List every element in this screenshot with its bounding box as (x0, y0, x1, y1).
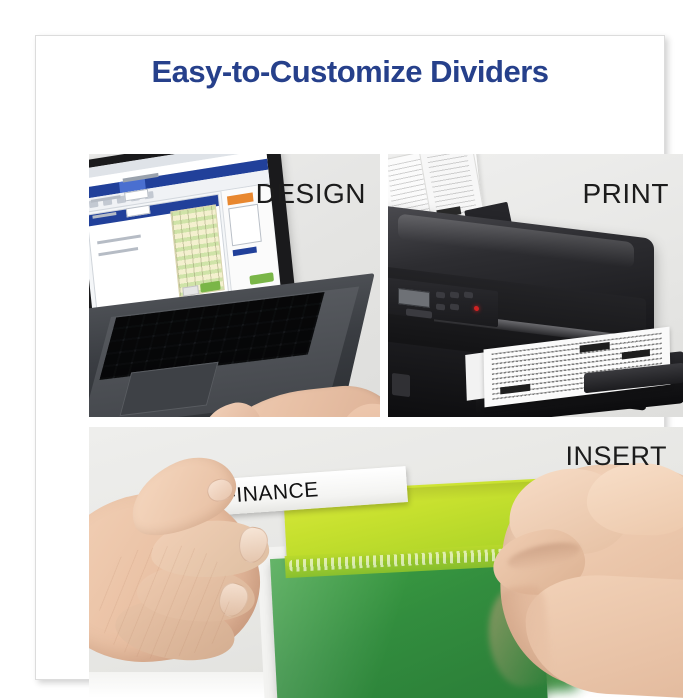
printer-button (464, 291, 473, 298)
printer-power-indicator (474, 306, 479, 312)
page-title: Easy-to-Customize Dividers (36, 54, 664, 90)
screen-preview-thumb (228, 204, 262, 247)
insert-label-text: FINANCE (222, 478, 319, 509)
product-card: Easy-to-Customize Dividers (35, 35, 665, 680)
printer-button (450, 303, 459, 310)
panel-design: DESIGN (89, 154, 380, 417)
printer-front-button (392, 373, 410, 397)
panel-label-insert: INSERT (565, 441, 667, 472)
panel-label-design: DESIGN (256, 178, 366, 210)
printer-button (450, 291, 459, 298)
panel-label-print: PRINT (583, 178, 670, 210)
printer-button (436, 303, 445, 310)
printer-button (436, 291, 445, 298)
panel-insert: FINANCE INSERT (89, 427, 683, 698)
screenshot-stage: Easy-to-Customize Dividers (0, 0, 700, 700)
panel-print: PRINT (388, 154, 683, 417)
